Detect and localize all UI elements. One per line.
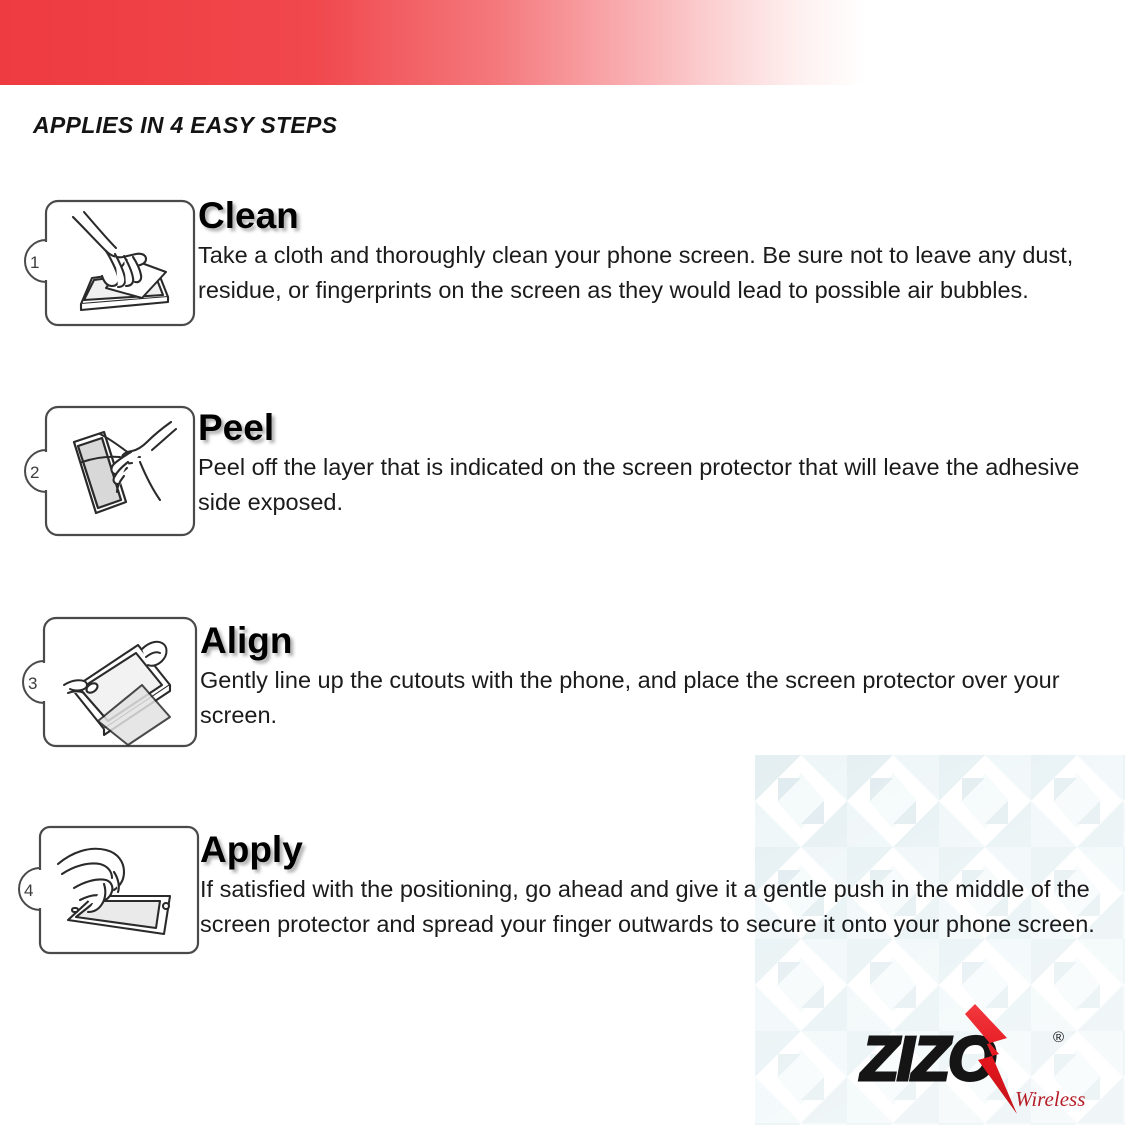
steps-list: 1 <box>0 0 1125 1125</box>
zizo-wireless-logo: ZIZO ® Wireless <box>847 1002 1107 1117</box>
step-1-title: Clean <box>198 196 1116 236</box>
step-4-text: If satisfied with the positioning, go ah… <box>200 872 1118 941</box>
step-3-body: Align Gently line up the cutouts with th… <box>200 621 1118 732</box>
zizo-wordmark: ZIZO <box>859 1025 996 1094</box>
registered-trademark-symbol: ® <box>1053 1029 1064 1046</box>
step-3-title: Align <box>200 621 1118 661</box>
wireless-tagline: Wireless <box>1015 1087 1085 1111</box>
step-1-icon-frame: 1 <box>18 196 200 336</box>
step-1-text: Take a cloth and thoroughly clean your p… <box>198 238 1116 307</box>
step-4-body: Apply If satisfied with the positioning,… <box>200 830 1118 941</box>
step-2-title: Peel <box>198 408 1116 448</box>
step-3-number: 3 <box>28 674 37 693</box>
step-2-number: 2 <box>30 463 39 482</box>
step-2-icon-frame: 2 <box>20 402 202 542</box>
svg-text:ZIZO: ZIZO <box>859 1025 996 1094</box>
step-4-number: 4 <box>24 881 33 900</box>
step-3-icon-frame: 3 <box>20 613 202 753</box>
step-1-body: Clean Take a cloth and thoroughly clean … <box>198 196 1116 307</box>
installation-guide-page: Installation Guide APPLIES IN 4 EASY STE… <box>0 0 1125 1125</box>
step-3-text: Gently line up the cutouts with the phon… <box>200 663 1118 732</box>
step-2-text: Peel off the layer that is indicated on … <box>198 450 1116 519</box>
step-2-body: Peel Peel off the layer that is indicate… <box>198 408 1116 519</box>
step-1-number: 1 <box>30 253 39 272</box>
step-4-icon-frame: 4 <box>14 822 196 962</box>
step-4-title: Apply <box>200 830 1118 870</box>
